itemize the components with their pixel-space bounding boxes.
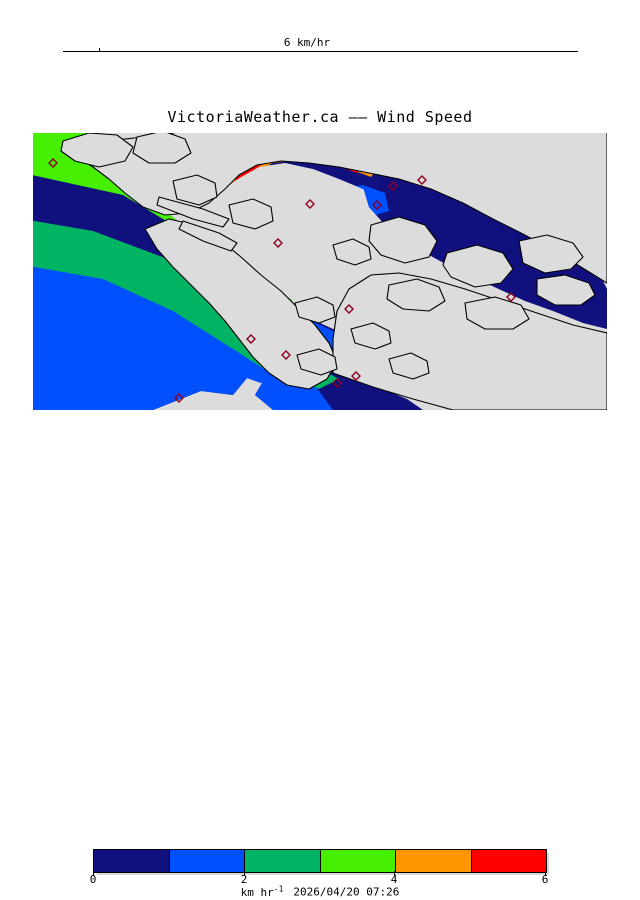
- colorbar-segment-0-1[interactable]: [94, 850, 169, 872]
- colorbar-segment-1-2[interactable]: [169, 850, 245, 872]
- page-title: VictoriaWeather.ca —— Wind Speed: [0, 108, 640, 126]
- colorbar[interactable]: [93, 849, 547, 873]
- station-marker[interactable]: [306, 200, 314, 208]
- colorbar-unit: km hr-1: [241, 886, 284, 899]
- land-island: [229, 199, 273, 229]
- map-canvas: [33, 133, 607, 410]
- contour-band-3-4: [295, 189, 337, 215]
- land-island: [133, 133, 191, 163]
- wind-vector-scale: 6 km/hr: [0, 0, 640, 95]
- colorbar-segment-3-4[interactable]: [320, 850, 396, 872]
- wind-vector-scale-tick: [99, 48, 100, 52]
- wind-speed-map[interactable]: [33, 133, 607, 410]
- colorbar-timestamp: 2026/04/20 07:26: [293, 886, 399, 899]
- colorbar-caption: km hr-12026/04/20 07:26: [0, 882, 640, 900]
- contour-band-2-3: [315, 187, 359, 215]
- colorbar-segment-4-5[interactable]: [395, 850, 471, 872]
- wind-vector-scale-line: [63, 51, 578, 52]
- wind-vector-scale-label: 6 km/hr: [247, 36, 367, 49]
- colorbar-area: 0246 km hr-12026/04/20 07:26: [0, 420, 640, 480]
- station-marker[interactable]: [274, 239, 282, 247]
- colorbar-segment-5-6[interactable]: [471, 850, 547, 872]
- colorbar-segment-2-3[interactable]: [244, 850, 320, 872]
- land-island: [333, 239, 371, 265]
